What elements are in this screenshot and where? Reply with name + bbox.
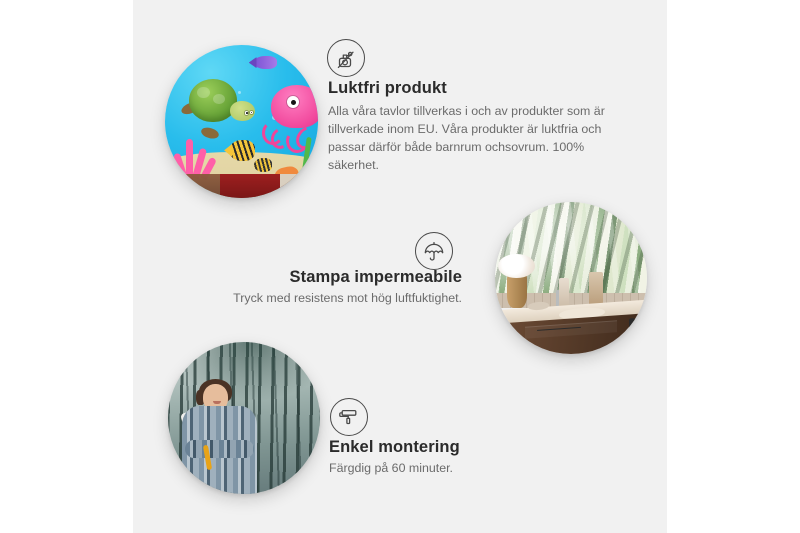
crossed-arms [185, 440, 254, 458]
small-fish-illustration [254, 158, 272, 172]
cabinet-handle [629, 317, 635, 333]
block-heading: Luktfri produkt [328, 79, 628, 99]
yellow-striped-fish-illustration [229, 140, 255, 161]
white-flowers [498, 254, 534, 278]
content-panel: Luktfri produkt Alla våra tavlor tillver… [133, 0, 667, 533]
no-odor-spray-bottle-icon [327, 39, 365, 77]
octopus-eye [287, 96, 299, 108]
turtle-eye [250, 111, 254, 114]
underwater-cartoon-mural-photo [165, 45, 318, 198]
block-heading: Enkel montering [329, 438, 629, 458]
sea-turtle-illustration [183, 76, 250, 134]
umbrella-icon [415, 232, 453, 270]
easy-install-text-block: Enkel montering Färgdig på 60 minuter. [329, 438, 629, 478]
bathroom-botanical-wallpaper-photo [495, 202, 647, 354]
block-body: Färgdig på 60 minuter. [329, 460, 629, 478]
block-heading: Stampa impermeabile [162, 268, 462, 288]
soap-bottle [559, 278, 570, 307]
woman-with-paint-roller-forest-photo [168, 342, 320, 494]
block-body: Tryck med resistens mot hög luftfuktighe… [162, 290, 462, 308]
turtle-shell [189, 79, 237, 122]
paint-roller-icon [330, 398, 368, 436]
red-furniture-strip [220, 174, 284, 198]
coral-illustration [174, 128, 220, 180]
bathroom-scene [495, 202, 647, 354]
ocean-scene [165, 45, 318, 198]
purple-fish-illustration [254, 56, 277, 70]
forest-scene [168, 342, 320, 494]
odorless-text-block: Luktfri produkt Alla våra tavlor tillver… [328, 79, 628, 175]
woman-figure [180, 382, 262, 494]
turtle-eye [245, 111, 249, 114]
block-body: Alla våra tavlor tillverkas i och av pro… [328, 103, 628, 175]
waterproof-text-block: Stampa impermeabile Tryck med resistens … [162, 268, 462, 308]
product-feature-infographic: Luktfri produkt Alla våra tavlor tillver… [0, 0, 800, 533]
turtle-head [230, 101, 254, 121]
octopus-head [271, 85, 318, 129]
